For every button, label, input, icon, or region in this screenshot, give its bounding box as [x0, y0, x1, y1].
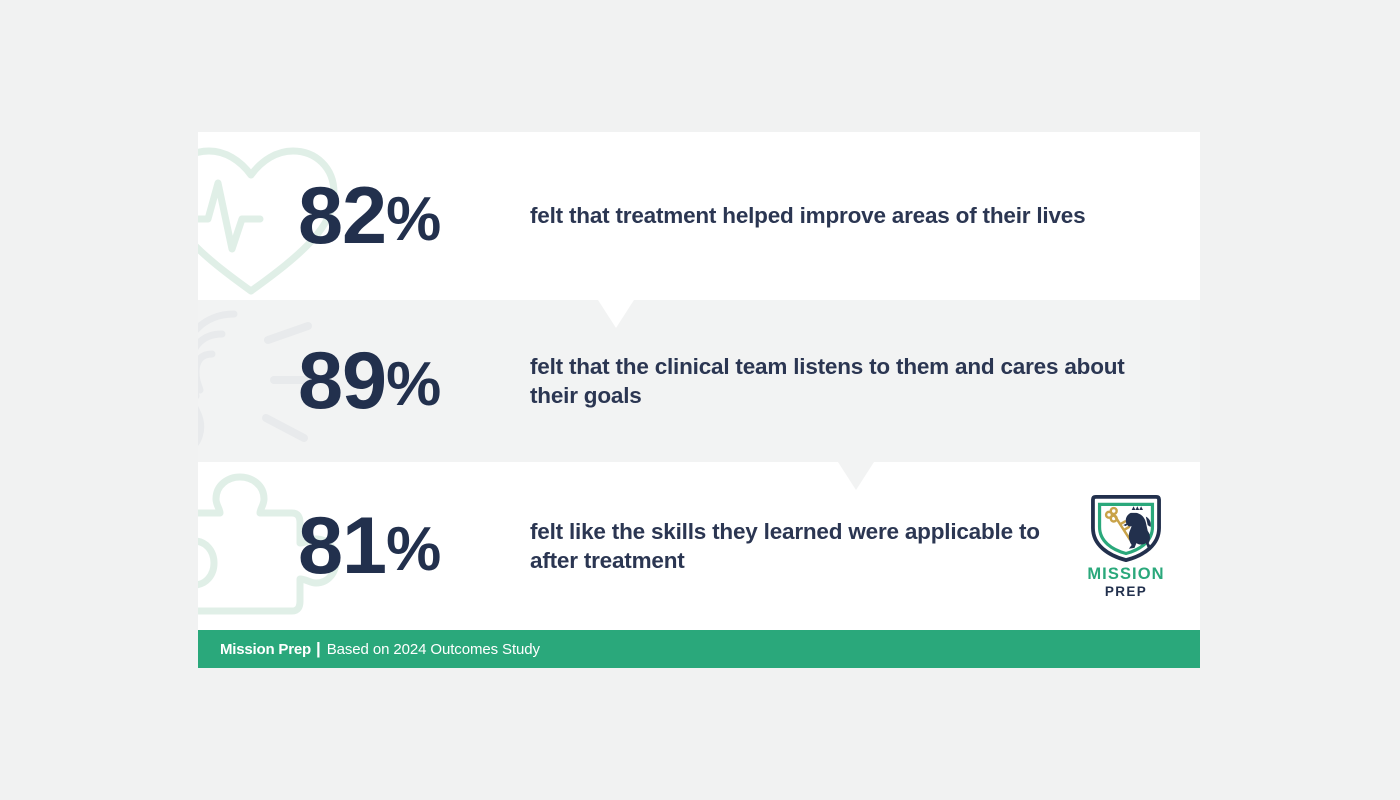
stat-text-1: felt that treatment helped improve areas… — [530, 201, 1160, 230]
mission-prep-logo: MISSION PREP — [1074, 494, 1178, 598]
stat-percent-1: 82% — [298, 176, 508, 257]
stat-panel-2: 89% felt that the clinical team listens … — [198, 300, 1200, 462]
panel-connector-notch-2 — [838, 462, 874, 490]
stat-panel-1: 82% felt that treatment helped improve a… — [198, 132, 1200, 300]
footer-note: Based on 2024 Outcomes Study — [327, 641, 540, 658]
footer-bar: Mission Prep | Based on 2024 Outcomes St… — [198, 630, 1200, 668]
stat-text-2: felt that the clinical team listens to t… — [530, 352, 1160, 410]
stat-panel-3: 81% felt like the skills they learned we… — [198, 462, 1200, 630]
logo-sub-wordmark: PREP — [1105, 585, 1147, 599]
percent-symbol: % — [386, 515, 439, 584]
footer-divider: | — [316, 639, 321, 659]
logo-wordmark: MISSION — [1087, 566, 1164, 583]
stat-text-3: felt like the skills they learned were a… — [530, 517, 1040, 575]
panel-connector-notch-1 — [598, 300, 634, 328]
shield-lion-key-icon — [1087, 494, 1165, 562]
stat-percent-2: 89% — [298, 341, 508, 422]
footer-brand: Mission Prep — [220, 641, 311, 658]
outcomes-infographic: 82% felt that treatment helped improve a… — [198, 132, 1200, 668]
stat-percent-3: 81% — [298, 506, 508, 587]
percent-symbol: % — [386, 185, 439, 254]
percent-symbol: % — [386, 350, 439, 419]
